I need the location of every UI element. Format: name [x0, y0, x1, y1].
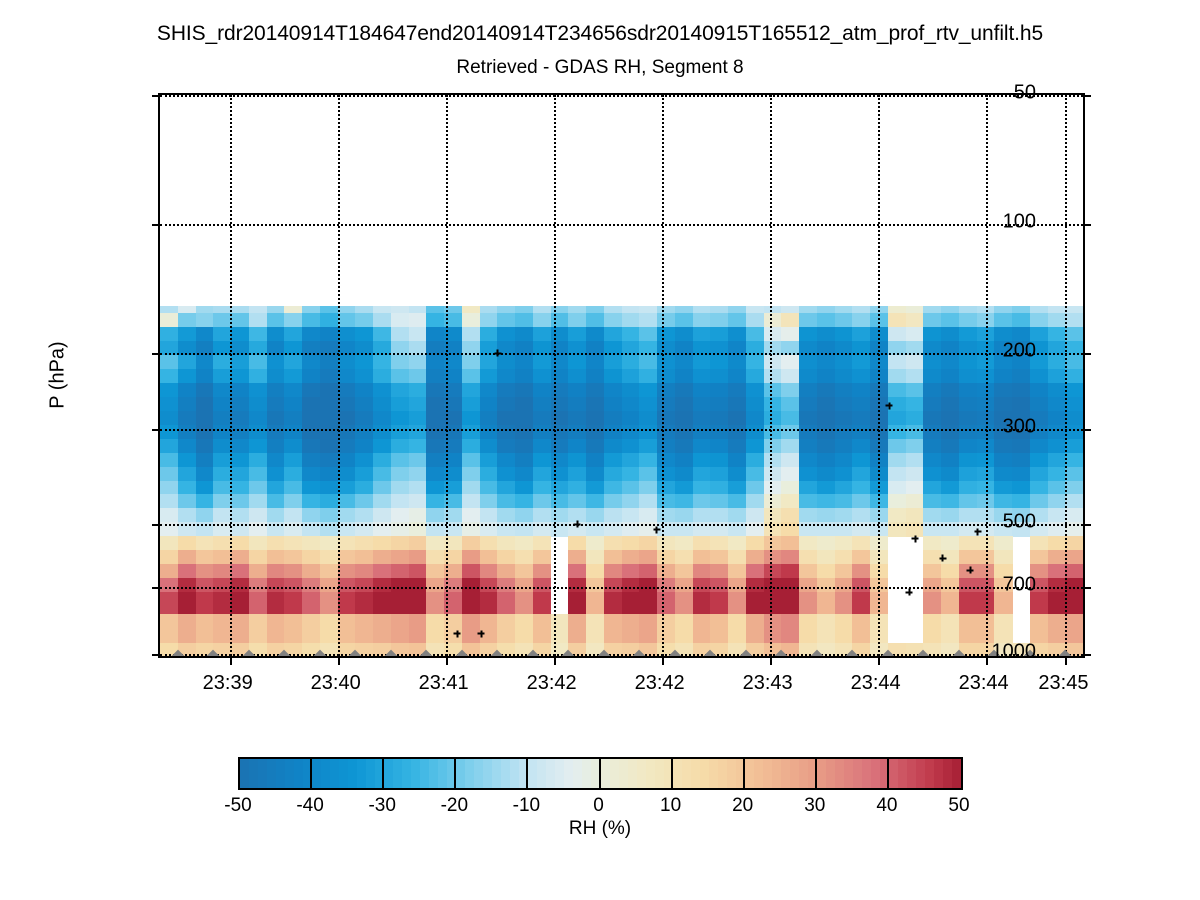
surface-pressure-marker [171, 650, 184, 656]
surface-pressure-marker [775, 650, 788, 656]
y-axis-tick [1083, 95, 1091, 97]
y-axis-tick [152, 654, 160, 656]
x-tick-label: 23:41 [419, 672, 469, 695]
surface-pressure-marker [597, 650, 610, 656]
colorbar-tick [454, 757, 456, 790]
surface-pressure-marker [455, 650, 468, 656]
x-axis-tick [986, 656, 988, 665]
colorbar-tick [815, 757, 817, 790]
y-axis-tick [152, 587, 160, 589]
cloud-top-marker [886, 402, 893, 409]
cloud-top-marker [939, 555, 946, 562]
x-tick-label: 23:44 [851, 672, 901, 695]
surface-pressure-marker [349, 650, 362, 656]
cloud-top-marker [478, 630, 485, 637]
surface-pressure-marker [278, 650, 291, 656]
x-axis-tick [662, 656, 664, 665]
surface-pressure-marker [668, 650, 681, 656]
cloud-top-marker [906, 589, 913, 596]
y-axis-tick [152, 224, 160, 226]
cloud-top-marker [494, 350, 501, 357]
x-axis-tick [554, 656, 556, 665]
y-axis-tick [152, 353, 160, 355]
cloud-top-marker [574, 521, 581, 528]
x-axis-tick [230, 656, 232, 665]
surface-pressure-marker [952, 650, 965, 656]
colorbar-tick-label: -20 [441, 795, 468, 817]
surface-pressure-marker [739, 650, 752, 656]
x-axis-tick [770, 656, 772, 665]
figure-canvas: SHIS_rdr20140914T184647end20140914T23465… [0, 0, 1200, 900]
figure-subtitle: Retrieved - GDAS RH, Segment 8 [0, 57, 1200, 79]
surface-pressure-marker [384, 650, 397, 656]
colorbar-tick [599, 757, 601, 790]
y-tick-label: 100 [1003, 211, 1036, 234]
colorbar-tick [671, 757, 673, 790]
x-tick-label: 23:42 [635, 672, 685, 695]
colorbar-tick-label: 50 [948, 795, 969, 817]
colorbar-title: RH (%) [0, 818, 1200, 840]
y-axis-tick [152, 429, 160, 431]
x-tick-label: 23:42 [527, 672, 577, 695]
surface-pressure-marker [562, 650, 575, 656]
cloud-top-marker [454, 630, 461, 637]
colorbar-tick-label: 10 [660, 795, 681, 817]
y-tick-label: 50 [1014, 82, 1036, 105]
colorbar-tick-label: 30 [804, 795, 825, 817]
x-tick-label: 23:45 [1038, 672, 1088, 695]
colorbar-tick-label: -40 [296, 795, 323, 817]
x-axis-tick [1065, 656, 1067, 665]
x-axis-tick [338, 656, 340, 665]
surface-pressure-marker [810, 650, 823, 656]
heatmap-plot-area[interactable] [158, 93, 1085, 658]
y-tick-label: 200 [1003, 340, 1036, 363]
colorbar-tick [887, 757, 889, 790]
colorbar-tick [310, 757, 312, 790]
x-tick-label: 23:44 [959, 672, 1009, 695]
y-axis-tick [1083, 654, 1091, 656]
x-tick-label: 23:43 [743, 672, 793, 695]
cloud-top-marker [967, 567, 974, 574]
colorbar-tick-label: -50 [224, 795, 251, 817]
y-axis-tick [1083, 587, 1091, 589]
colorbar-tick [382, 757, 384, 790]
x-tick-label: 23:40 [311, 672, 361, 695]
y-axis-title: P (hPa) [47, 341, 70, 408]
x-tick-label: 23:39 [203, 672, 253, 695]
y-axis-tick [1083, 224, 1091, 226]
marker-layer [160, 95, 1083, 656]
surface-pressure-marker [846, 650, 859, 656]
figure-title-filename: SHIS_rdr20140914T184647end20140914T23465… [0, 22, 1200, 46]
surface-pressure-marker [313, 650, 326, 656]
colorbar[interactable] [238, 757, 963, 790]
cloud-top-marker [653, 526, 660, 533]
surface-pressure-marker [526, 650, 539, 656]
cloud-top-marker [974, 528, 981, 535]
colorbar-tick-label: -30 [368, 795, 395, 817]
y-tick-label: 300 [1003, 416, 1036, 439]
x-axis-tick [878, 656, 880, 665]
surface-pressure-marker [420, 650, 433, 656]
x-axis-tick [446, 656, 448, 665]
y-axis-tick [152, 524, 160, 526]
surface-pressure-marker [881, 650, 894, 656]
y-tick-label: 1000 [992, 640, 1037, 663]
y-tick-label: 700 [1003, 574, 1036, 597]
colorbar-gradient [240, 759, 961, 788]
y-tick-label: 500 [1003, 511, 1036, 534]
cloud-top-marker [912, 535, 919, 542]
surface-pressure-marker [242, 650, 255, 656]
colorbar-tick-label: 40 [876, 795, 897, 817]
surface-pressure-marker [917, 650, 930, 656]
surface-pressure-marker [207, 650, 220, 656]
y-axis-tick [1083, 524, 1091, 526]
colorbar-tick-label: 0 [593, 795, 604, 817]
colorbar-tick [526, 757, 528, 790]
y-axis-tick [1083, 429, 1091, 431]
colorbar-tick [743, 757, 745, 790]
surface-pressure-marker [491, 650, 504, 656]
colorbar-tick-label: 20 [732, 795, 753, 817]
colorbar-tick-label: -10 [513, 795, 540, 817]
y-axis-tick [1083, 353, 1091, 355]
surface-pressure-marker [704, 650, 717, 656]
y-axis-tick [152, 95, 160, 97]
colorbar-segment [952, 759, 962, 788]
surface-pressure-marker [633, 650, 646, 656]
